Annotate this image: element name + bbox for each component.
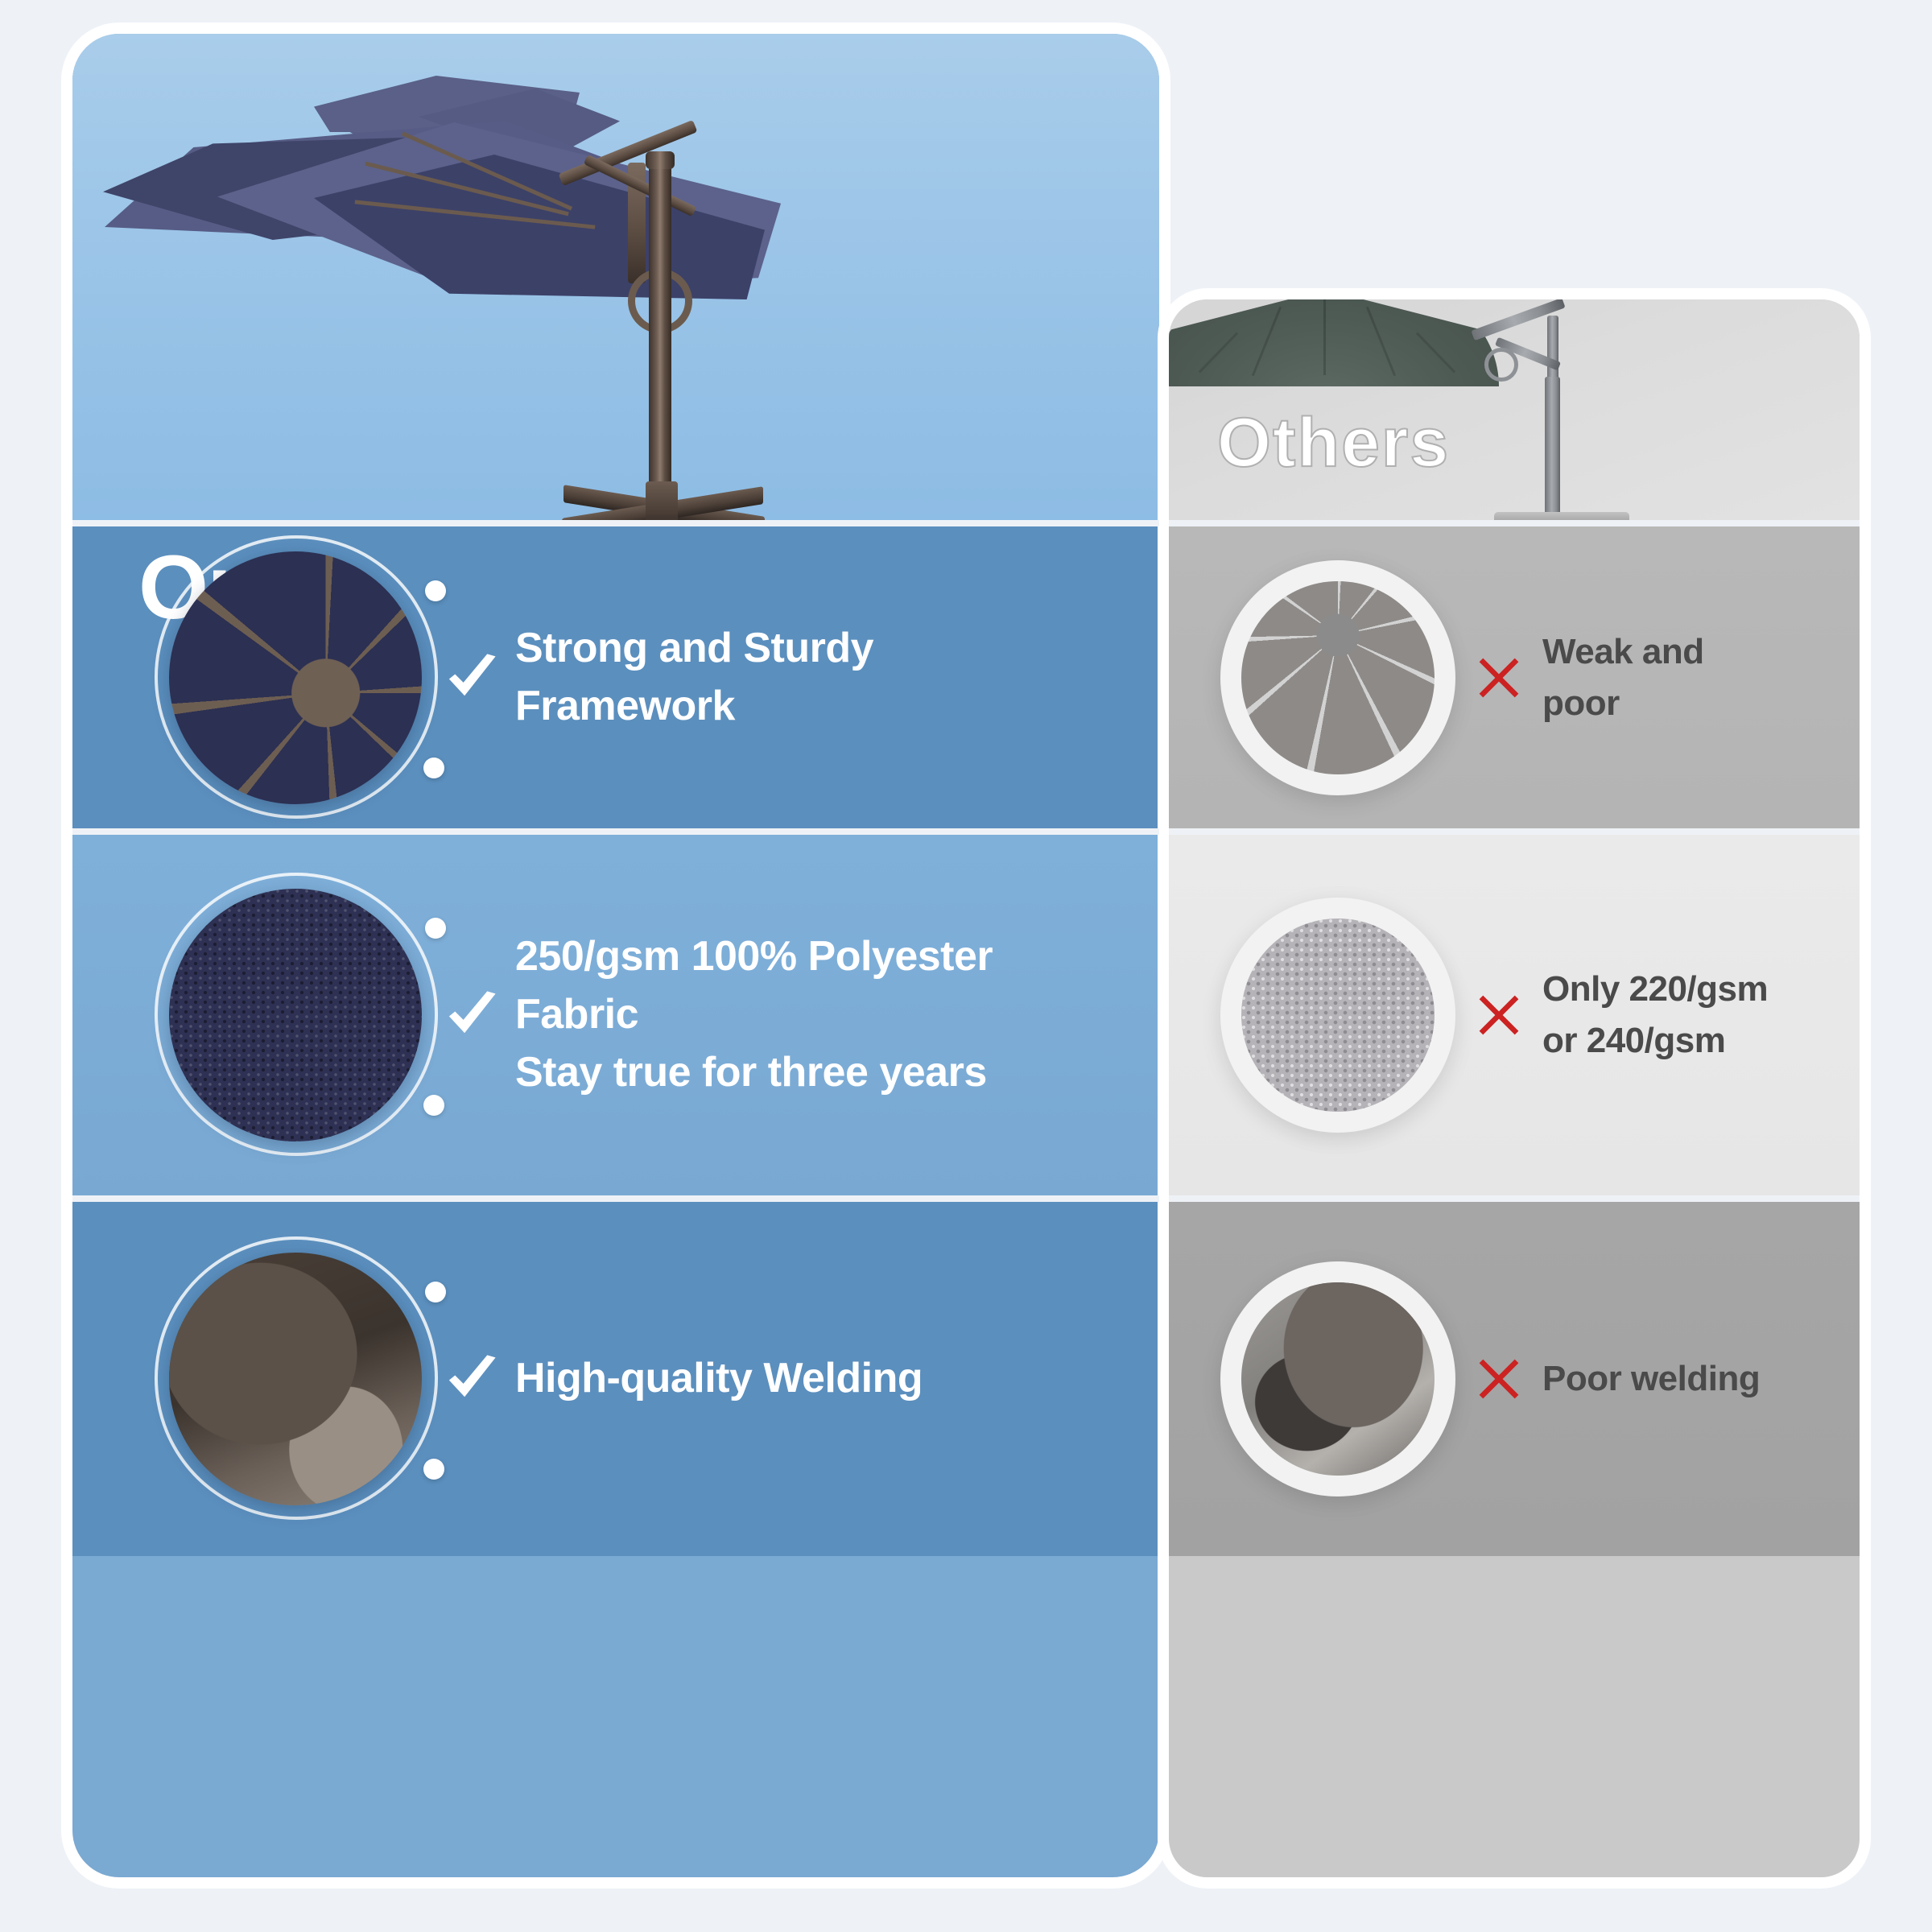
feature-line: High-quality Welding — [515, 1350, 923, 1408]
check-icon — [428, 1349, 515, 1409]
ours-hero-panel — [72, 34, 1159, 521]
others-feature-text-2: Only 220/gsm or 240/gsm — [1542, 964, 1768, 1067]
feature-line: Strong and Sturdy — [515, 620, 873, 678]
decorative-dot — [423, 1459, 444, 1480]
ours-feature-row-2: 250/gsm 100% Polyester Fabric Stay true … — [72, 835, 1159, 1195]
others-feature-text-1: Weak and poor — [1542, 626, 1704, 729]
comparison-infographic: Ours Strong and Sturdy Framework — [0, 0, 1932, 1932]
others-feature-image-1 — [1220, 560, 1455, 795]
others-column: Others Weak and poor — [1169, 299, 1860, 1877]
x-icon — [1455, 654, 1542, 701]
feature-line: 250/gsm 100% Polyester — [515, 928, 993, 986]
x-icon — [1455, 992, 1542, 1038]
decorative-dot — [423, 758, 444, 778]
row-divider — [1169, 1195, 1860, 1202]
row-divider — [1169, 520, 1860, 526]
row-divider — [72, 520, 1159, 526]
ours-feature-row-3: High-quality Welding — [72, 1202, 1159, 1556]
ours-feature-image-2 — [163, 882, 428, 1148]
ours-feature-text-2: 250/gsm 100% Polyester Fabric Stay true … — [515, 928, 993, 1101]
row-divider — [72, 828, 1159, 835]
check-icon — [428, 648, 515, 708]
decorative-dot — [425, 580, 446, 601]
decorative-dot — [423, 1095, 444, 1116]
decorative-dot — [425, 1282, 446, 1302]
row-divider — [1169, 828, 1860, 835]
feature-line: Fabric — [515, 986, 993, 1044]
others-feature-image-2 — [1220, 898, 1455, 1133]
feature-line: Poor welding — [1542, 1353, 1760, 1405]
others-feature-row-3: Poor welding — [1169, 1202, 1860, 1556]
ours-column: Ours Strong and Sturdy Framework — [72, 34, 1159, 1877]
ours-feature-row-1: Strong and Sturdy Framework — [72, 526, 1159, 828]
feature-line: poor — [1542, 678, 1704, 729]
others-title: Others — [1217, 408, 1450, 477]
others-feature-row-1: Weak and poor — [1169, 526, 1860, 828]
others-feature-row-2: Only 220/gsm or 240/gsm — [1169, 835, 1860, 1195]
feature-line: Stay true for three years — [515, 1044, 993, 1102]
feature-line: Framework — [515, 678, 873, 736]
check-icon — [428, 985, 515, 1045]
row-divider — [72, 1195, 1159, 1202]
feature-line: Only 220/gsm — [1542, 964, 1768, 1015]
x-icon — [1455, 1356, 1542, 1402]
ours-feature-image-1 — [163, 545, 428, 811]
others-feature-image-3 — [1220, 1261, 1455, 1496]
feature-line: or 240/gsm — [1542, 1015, 1768, 1067]
ours-feature-text-3: High-quality Welding — [515, 1350, 923, 1408]
feature-line: Weak and — [1542, 626, 1704, 678]
ours-feature-image-3 — [163, 1246, 428, 1512]
ours-feature-text-1: Strong and Sturdy Framework — [515, 620, 873, 736]
others-feature-text-3: Poor welding — [1542, 1353, 1760, 1405]
decorative-dot — [425, 918, 446, 939]
